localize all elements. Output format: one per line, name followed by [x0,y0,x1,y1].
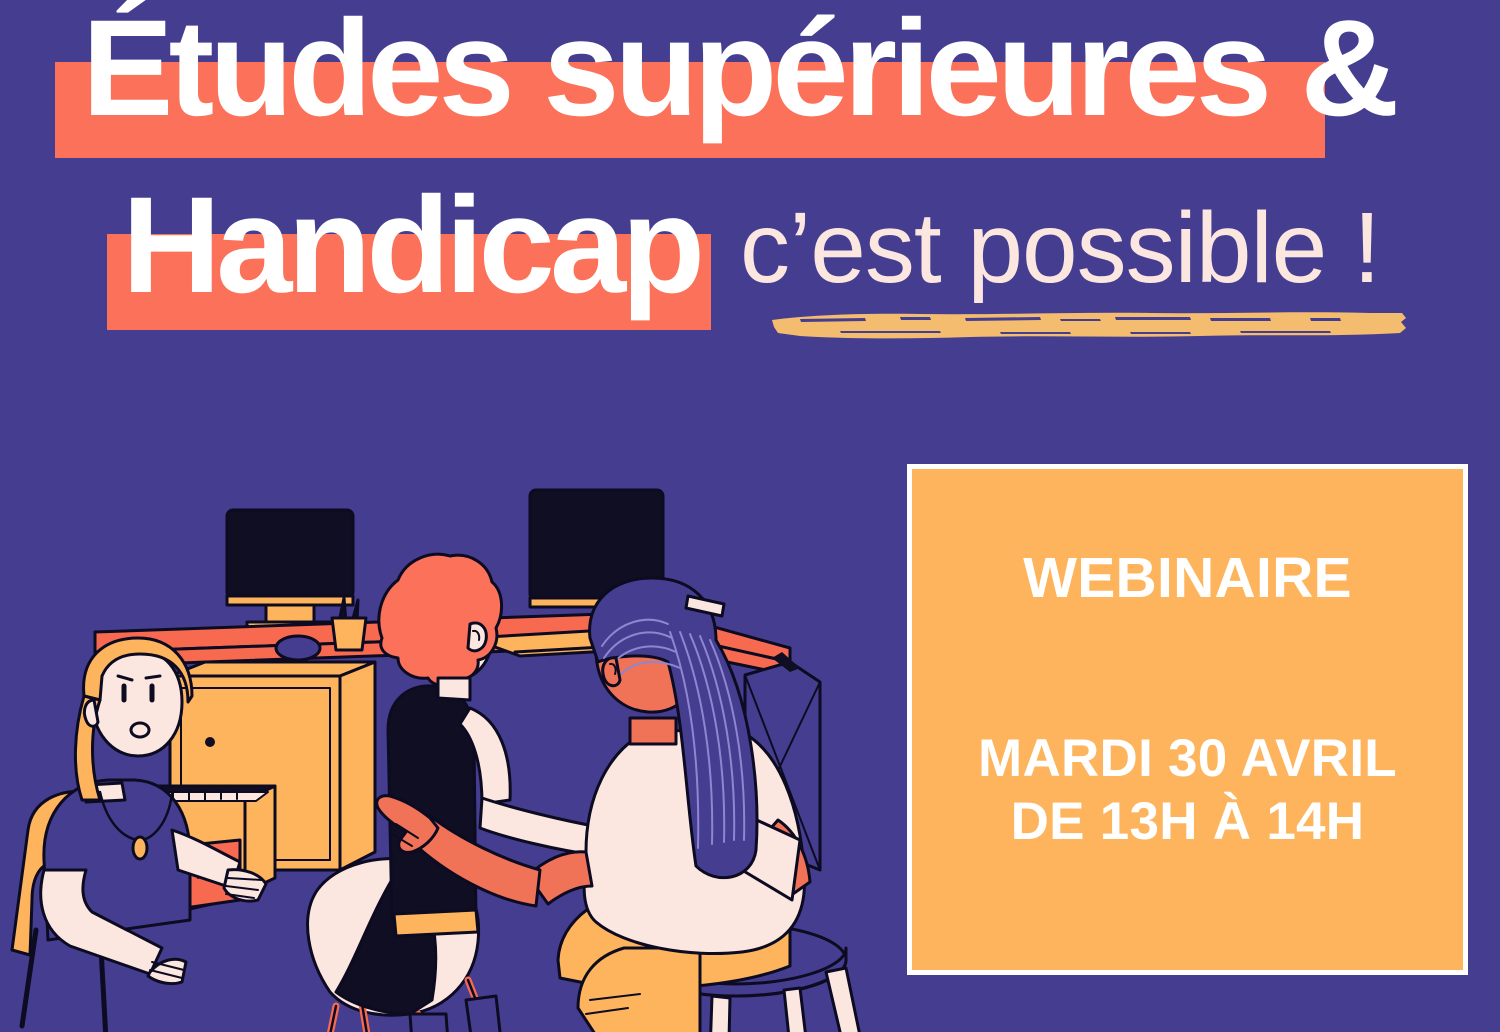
title-tagline: c’est possible ! [740,198,1380,298]
webinar-date-line-1: MARDI 30 AVRIL [978,727,1397,791]
webinar-heading: WEBINAIRE [1023,549,1352,609]
office-illustration [0,400,900,1032]
brush-underline-icon [770,306,1410,346]
mouse-icon [276,636,320,660]
title-block: Études supérieures & Handicap c’est poss… [0,0,1500,360]
webinar-date: MARDI 30 AVRIL DE 13H À 14H [978,727,1397,854]
webinar-date-line-2: DE 13H À 14H [978,790,1397,854]
poster-canvas: Études supérieures & Handicap c’est poss… [0,0,1500,1032]
monitor-left [227,510,353,632]
title-line-1: Études supérieures & [82,0,1395,137]
title-line-2: Handicap [122,177,700,314]
webinar-info-box: WEBINAIRE MARDI 30 AVRIL DE 13H À 14H [907,464,1468,975]
